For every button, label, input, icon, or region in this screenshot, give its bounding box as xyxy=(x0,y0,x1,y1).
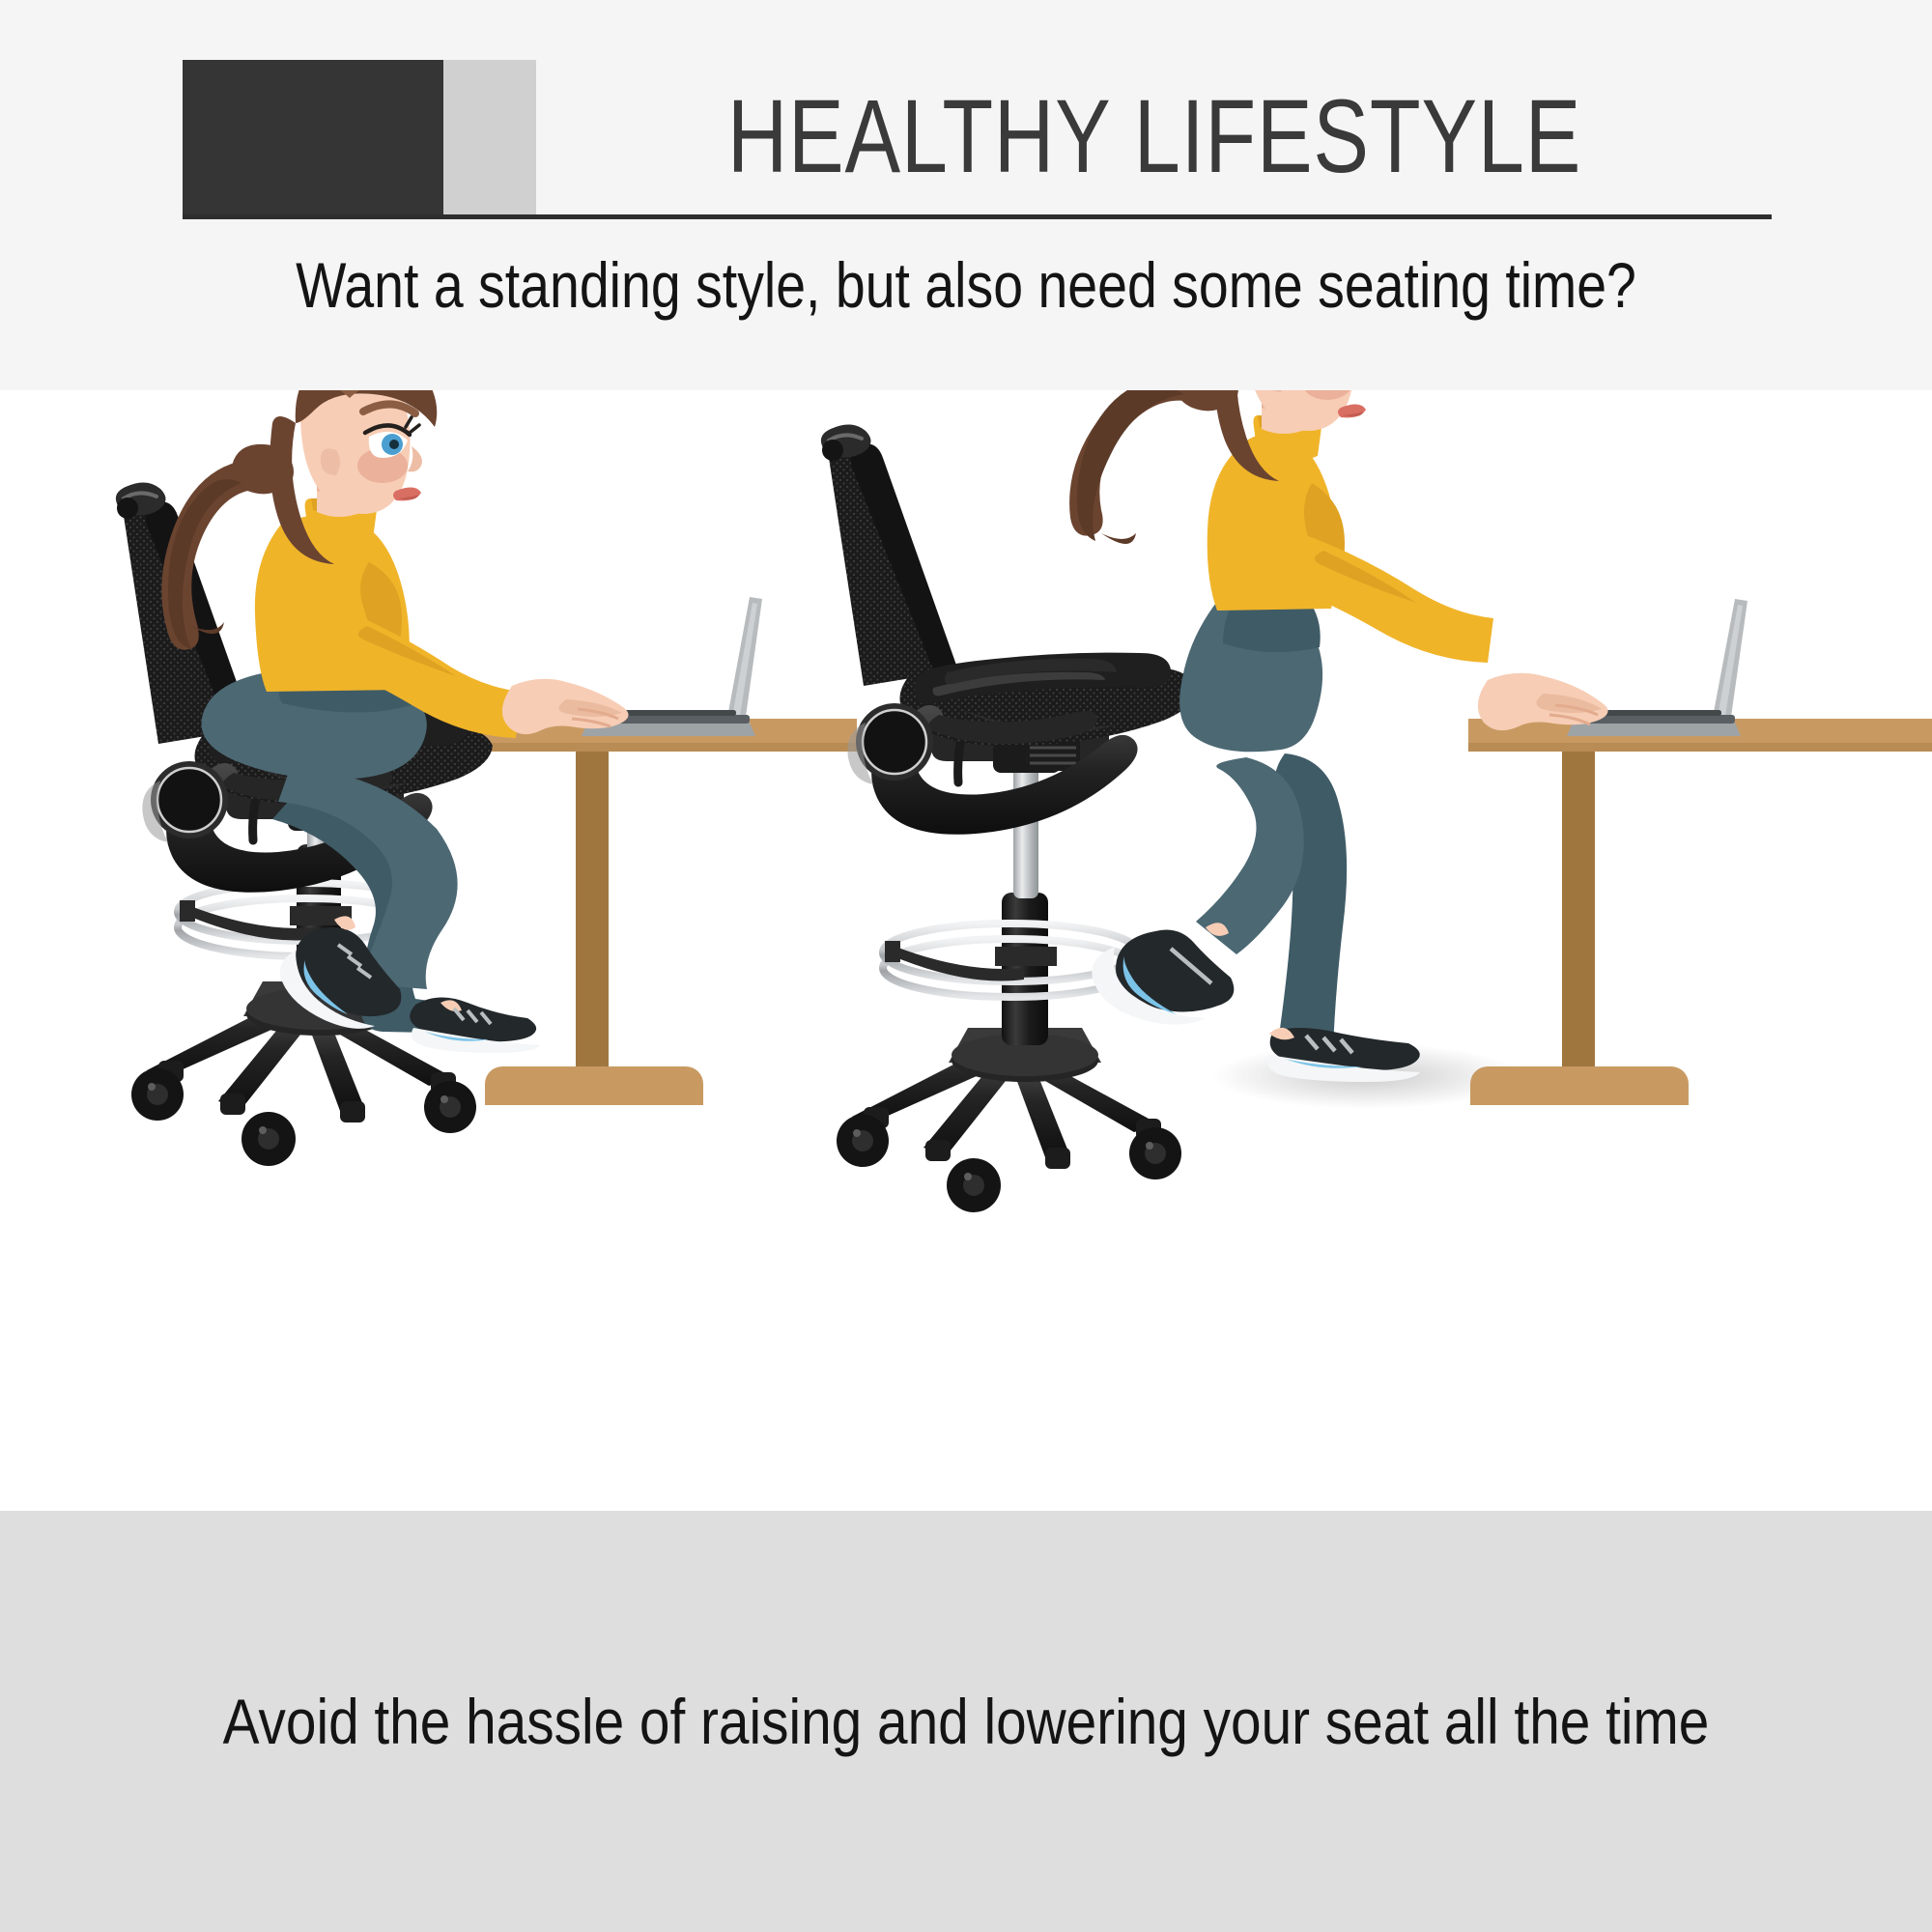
shoe-back-left xyxy=(410,997,541,1053)
header-section: HEALTHY LIFESTYLE Want a standing style,… xyxy=(0,0,1932,390)
logo-dark-swatch xyxy=(183,60,443,215)
caster-wheel xyxy=(947,1158,1001,1212)
chair-base-right xyxy=(837,1028,1181,1212)
illustration-area xyxy=(0,390,1932,1511)
logo-block xyxy=(183,60,536,215)
header-subtitle: Want a standing style, but also need som… xyxy=(155,241,1777,328)
hand-left xyxy=(502,679,629,734)
footer-caption: Avoid the hassle of raising and lowering… xyxy=(135,1511,1797,1932)
chair-right xyxy=(821,424,1198,1212)
caster-wheel xyxy=(241,1112,296,1166)
right-scene-standing xyxy=(821,390,1932,1212)
caster-wheel xyxy=(1129,1127,1181,1179)
page-title: HEALTHY LIFESTYLE xyxy=(660,53,1649,217)
hand-right xyxy=(1478,673,1608,730)
logo-light-swatch xyxy=(443,60,536,215)
desk-right xyxy=(1468,719,1932,1105)
infographic-page: HEALTHY LIFESTYLE Want a standing style,… xyxy=(0,0,1932,1932)
footer-section: Avoid the hassle of raising and lowering… xyxy=(0,1511,1932,1932)
illustration-svg xyxy=(0,390,1932,1511)
header-divider xyxy=(183,214,1772,219)
chair-backrest-right xyxy=(821,424,958,686)
left-scene-seated xyxy=(116,390,857,1166)
caster-wheel xyxy=(131,1068,184,1121)
caster-wheel xyxy=(424,1081,476,1133)
shoe-back-right xyxy=(1267,1028,1420,1082)
caster-wheel xyxy=(837,1115,889,1167)
